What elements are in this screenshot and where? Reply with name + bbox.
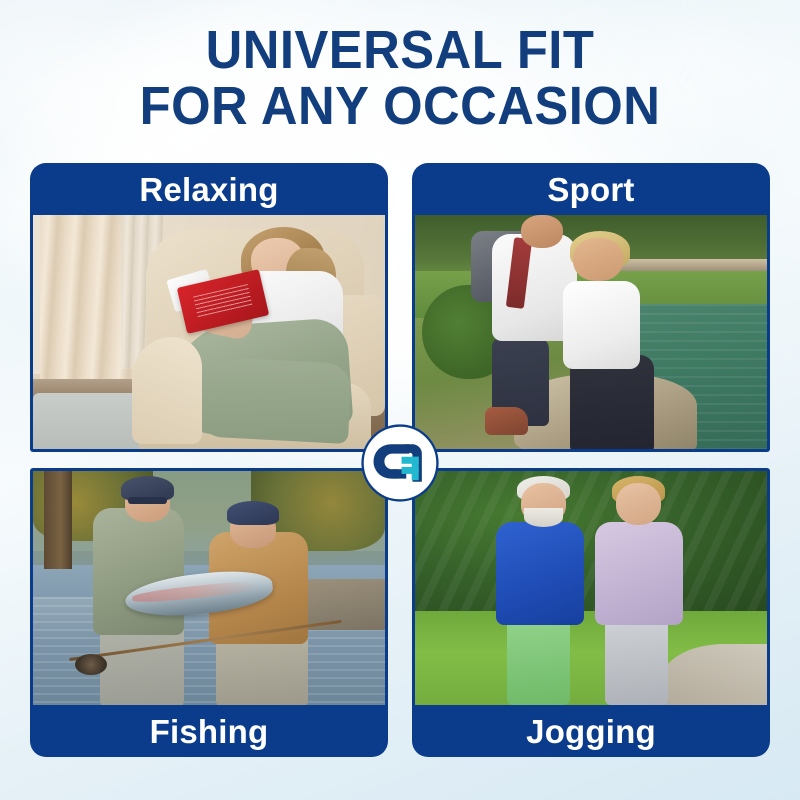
panel-label-sport: Sport: [412, 163, 770, 215]
occasion-panel-jogging: Jogging: [412, 468, 770, 757]
scene-fishing: [33, 471, 385, 705]
headline-line-1: UNIVERSAL FIT: [24, 22, 776, 78]
scene-sport: [415, 215, 767, 449]
panel-photo-sport: [415, 215, 767, 449]
headline: UNIVERSAL FIT FOR ANY OCCASION: [24, 22, 776, 134]
panel-photo-jogging: [415, 471, 767, 705]
occasion-panel-sport: Sport: [412, 163, 770, 452]
occasion-panel-relaxing: Relaxing: [30, 163, 388, 452]
scene-jogging: [415, 471, 767, 705]
brand-monogram-icon: [361, 424, 439, 502]
headline-line-2: FOR ANY OCCASION: [24, 78, 776, 134]
occasion-panel-fishing: Fishing: [30, 468, 388, 757]
brand-logo-badge: [361, 424, 439, 502]
panel-label-relaxing: Relaxing: [30, 163, 388, 215]
panel-photo-relaxing: [33, 215, 385, 449]
panel-photo-fishing: [33, 471, 385, 705]
panel-label-fishing: Fishing: [30, 705, 388, 757]
promo-poster: UNIVERSAL FIT FOR ANY OCCASION Relaxing: [0, 0, 800, 800]
scene-relaxing: [33, 215, 385, 449]
panel-label-jogging: Jogging: [412, 705, 770, 757]
